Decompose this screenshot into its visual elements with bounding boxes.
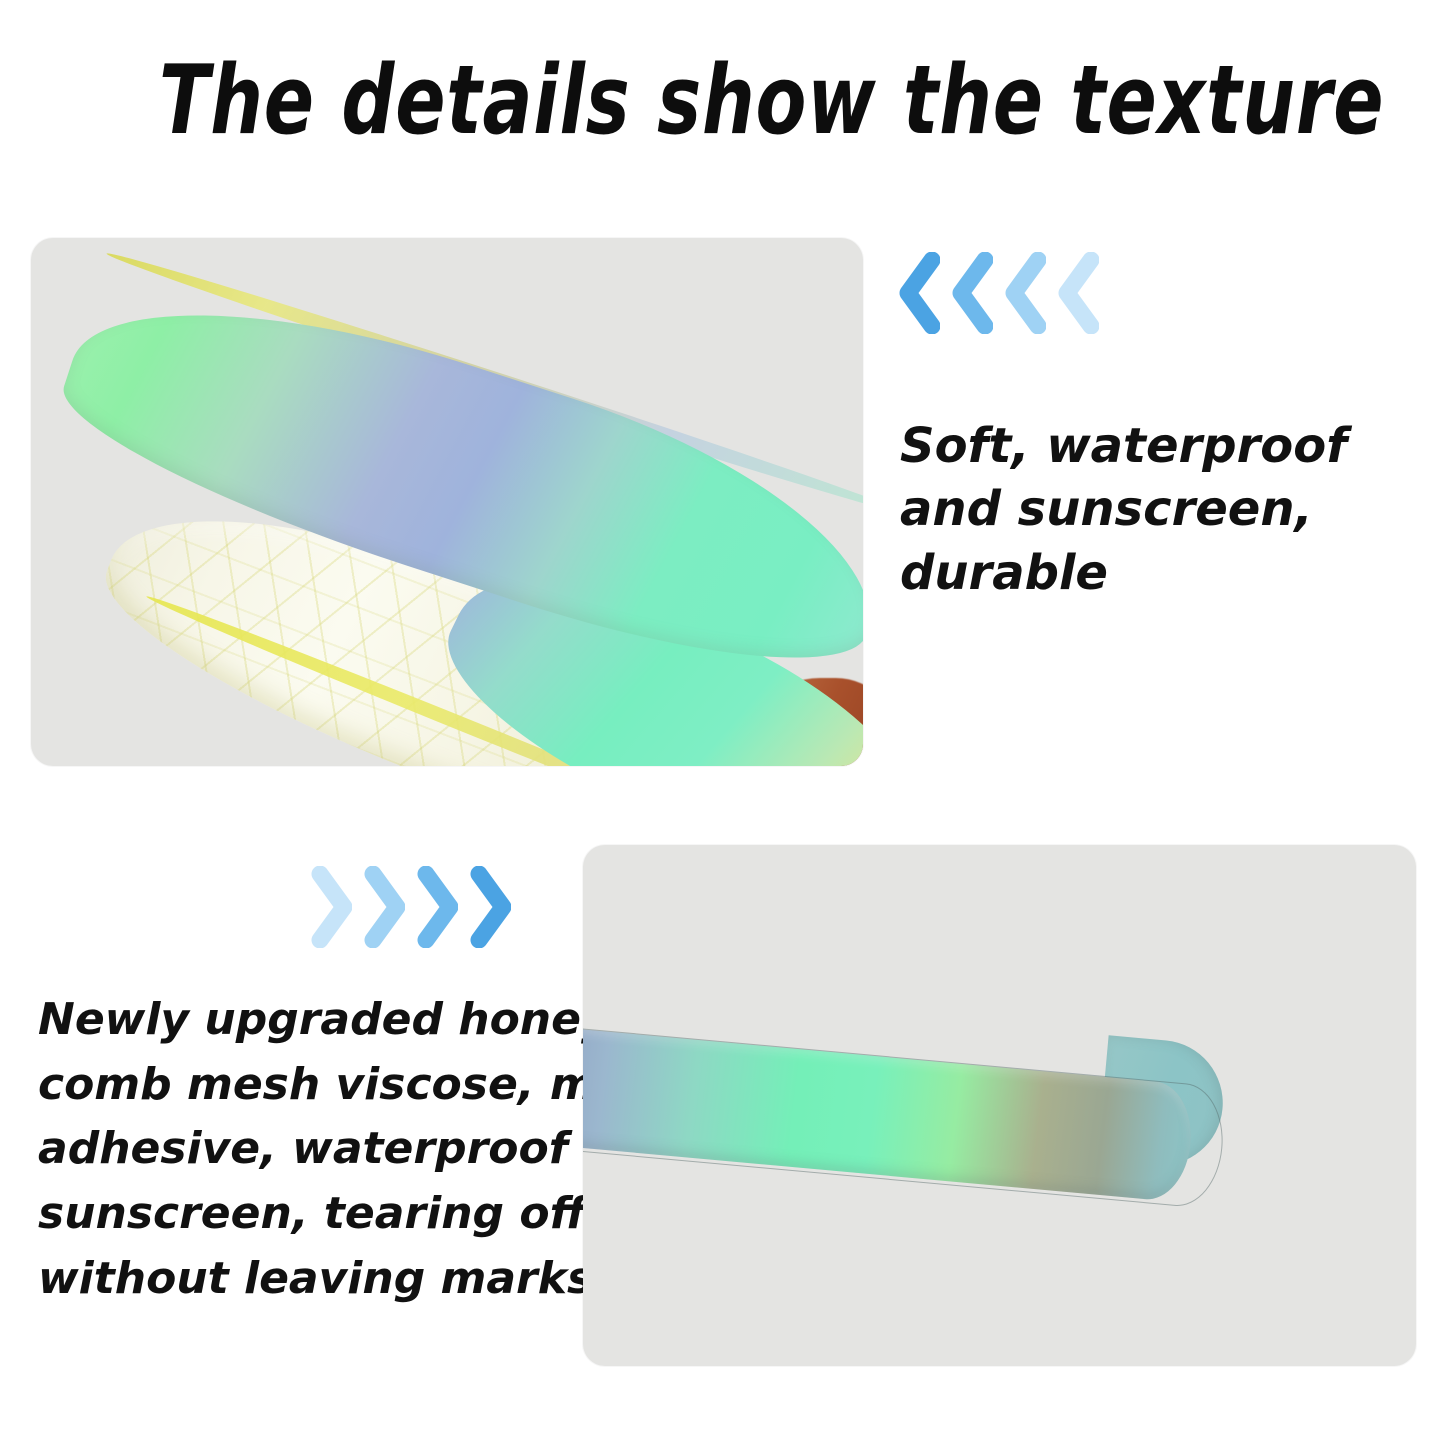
- chevron-left-icon: [1002, 252, 1046, 334]
- holographic-tape-strip-photo: [583, 845, 1416, 1366]
- tape-strip-body: [583, 1027, 1196, 1203]
- bottom-caption-line: Newly upgraded honey-: [38, 988, 568, 1053]
- top-caption-line: durable: [900, 542, 1400, 605]
- chevron-right-icon: [414, 866, 458, 948]
- chevron-right-icon: [361, 866, 405, 948]
- holographic-tape-loop-photo: [31, 238, 863, 766]
- chevron-left-icon: [949, 252, 993, 334]
- chevron-left-icon: [896, 252, 940, 334]
- tape-strip-illustration: [583, 845, 1416, 1366]
- chevron-left-icon: [1055, 252, 1099, 334]
- chevron-group-right: [308, 866, 511, 948]
- bottom-caption-line: comb mesh viscose, more: [38, 1053, 568, 1118]
- top-caption-line: Soft, waterproof: [900, 415, 1400, 478]
- bottom-caption: Newly upgraded honey- comb mesh viscose,…: [38, 988, 568, 1311]
- bottom-caption-line: adhesive, waterproof and: [38, 1117, 568, 1182]
- bottom-caption-line: without leaving marks: [38, 1247, 568, 1312]
- chevron-group-left: [896, 252, 1099, 334]
- chevron-right-icon: [308, 866, 352, 948]
- chevron-right-icon: [467, 866, 511, 948]
- page-title: The details show the texture: [159, 52, 1286, 152]
- bottom-caption-line: sunscreen, tearing off: [38, 1182, 568, 1247]
- top-caption: Soft, waterproof and sunscreen, durable: [900, 415, 1400, 605]
- tape-loop-illustration: [31, 238, 863, 766]
- top-caption-line: and sunscreen,: [900, 478, 1400, 541]
